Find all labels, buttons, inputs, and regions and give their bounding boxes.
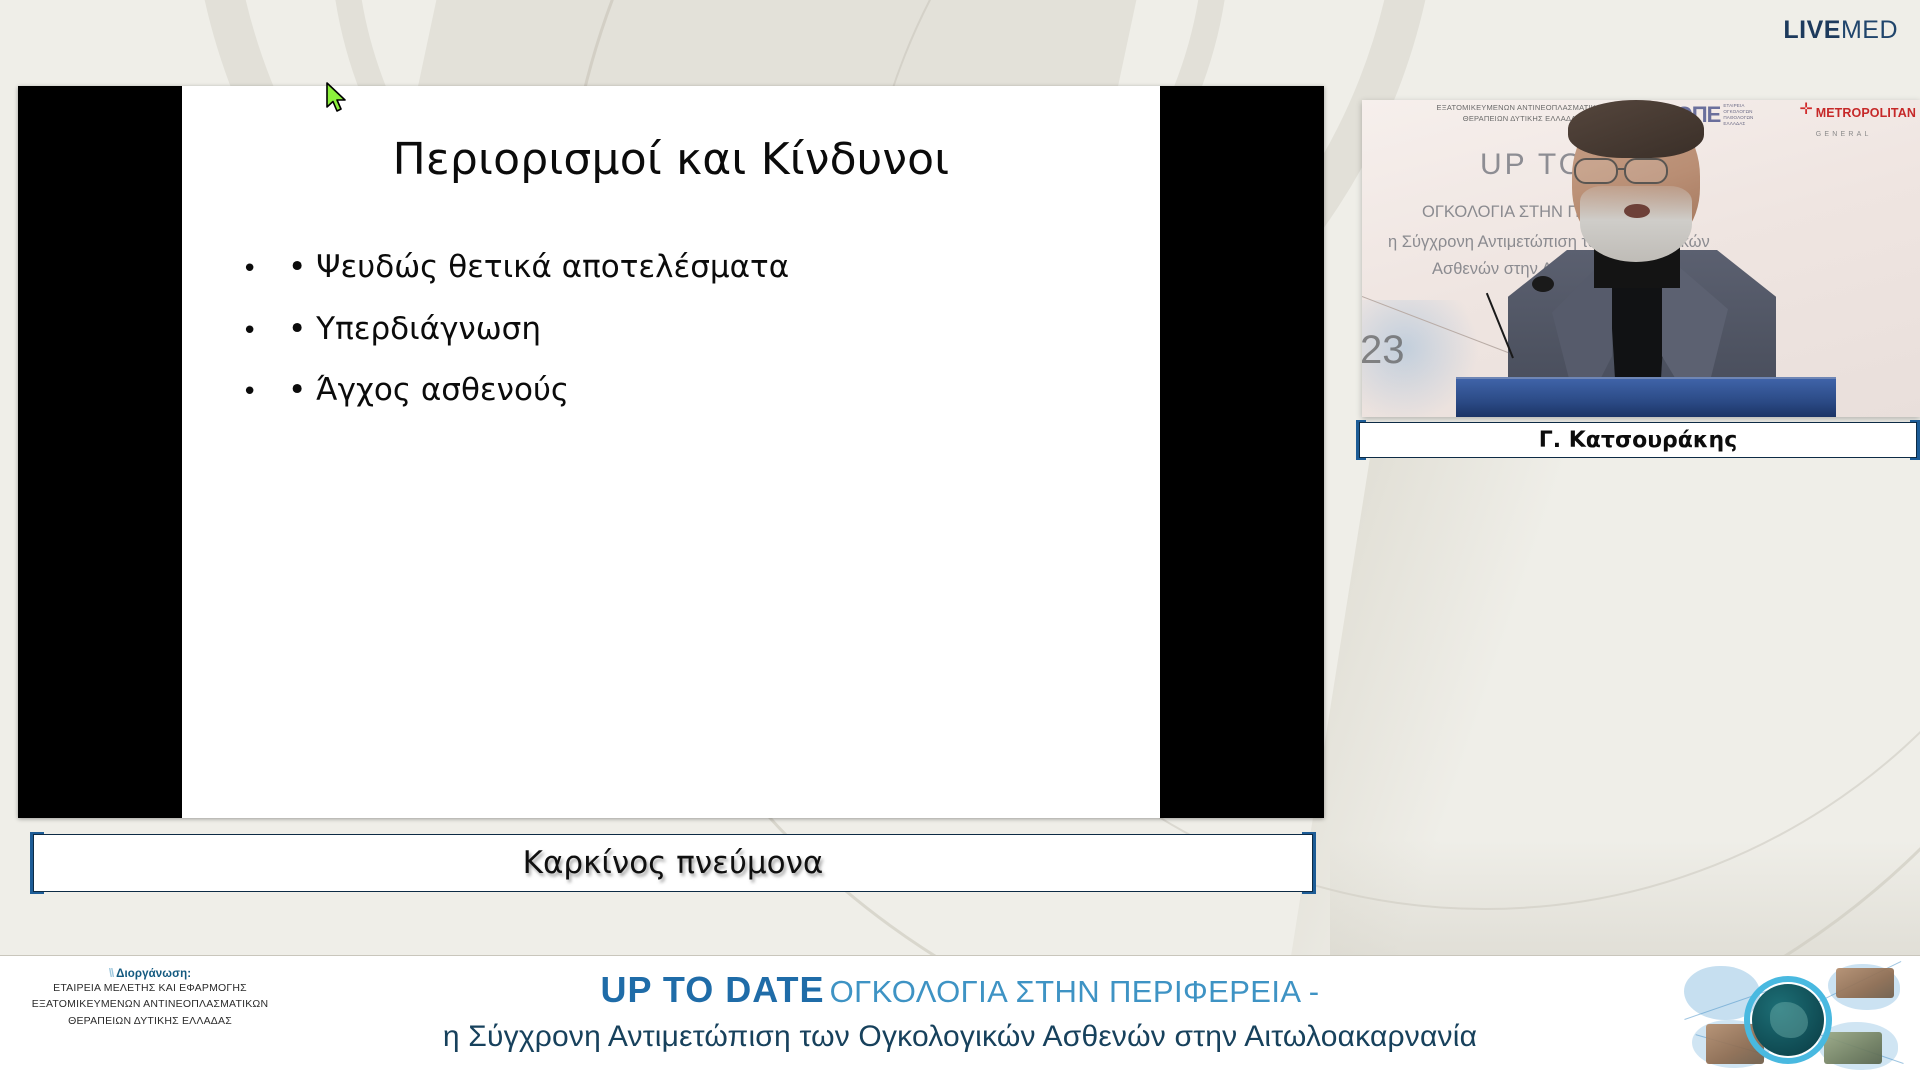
mouse-cursor-icon [326,82,348,118]
livemed-logo-live: LIVE [1783,16,1841,44]
metropolitan-logo-sub: GENERAL [1816,131,1872,138]
podium [1456,379,1836,417]
organizer-line-1: ΕΤΑΙΡΕΙΑ ΜΕΛΕΤΗΣ ΚΑΙ ΕΦΑΡΜΟΓΗΣ [0,980,300,996]
slide-bullet-list: • • Ψευδώς θετικά αποτελέσματα • • Υπερδ… [242,248,1120,433]
emblem-photo-thumb [1824,1032,1882,1064]
bullet-marker: • [242,376,288,409]
event-footer-bar: \\ Διοργάνωση: ΕΤΑΙΡΕΙΑ ΜΕΛΕΤΗΣ ΚΑΙ ΕΦΑΡ… [0,955,1920,1080]
eope-sub-2: ΟΓΚΟΛΟΓΩΝ [1723,109,1752,114]
emblem-photo-thumb [1836,968,1894,998]
organizer-line-3: ΘΕΡΑΠΕΙΩΝ ΔΥΤΙΚΗΣ ΕΛΛΑΔΑΣ [0,1013,300,1029]
speaker-nameplate-bar: Γ. Κατσουράκης [1356,420,1920,460]
medical-cross-icon: ✛ [1799,102,1812,116]
speaker-glasses-bridge [1618,168,1626,170]
bullet-text: • Ψευδώς θετικά αποτελέσματα [288,248,789,288]
livemed-logo: LIVEMED [1783,18,1898,43]
metropolitan-logo-text: METROPOLITAN [1816,106,1916,120]
speaker-glasses-right-lens [1624,158,1668,184]
organizer-line-2: ΕΞΑΤΟΜΙΚΕΥΜΕΝΩΝ ΑΝΤΙΝΕΟΠΛΑΣΜΑΤΙΚΩΝ [0,996,300,1012]
bullet-marker: • [242,253,288,286]
presentation-slide-stage[interactable]: Περιορισμοί και Κίνδυνοι • • Ψευδώς θετι… [18,86,1324,818]
event-title-rest: ΟΓΚΟΛΟΓΙΑ ΣΤΗΝ ΠΕΡΙΦΕΡΕΙΑ - [830,974,1320,1009]
bullet-text: • Υπερδιάγνωση [288,310,541,350]
event-title-block: UP TO DATE ΟΓΚΟΛΟΓΙΑ ΣΤΗΝ ΠΕΡΙΦΕΡΕΙΑ - η… [260,970,1660,1054]
eope-sub-1: ΕΤΑΙΡΕΙΑ [1723,103,1744,108]
bullet-text: • Άγχος ασθενούς [288,371,569,411]
slide-title: Περιορισμοί και Κίνδυνοι [182,134,1160,185]
organizer-heading-text: Διοργάνωση: [116,968,191,980]
event-title-bold: UP TO DATE [601,969,825,1010]
livemed-logo-med: MED [1841,16,1898,44]
speaker-glasses-left-lens [1574,158,1618,184]
microphone-icon [1532,276,1554,292]
eope-sub-3: ΠΑΘΟΛΟΓΩΝ [1723,115,1753,120]
slide-canvas: Περιορισμοί και Κίνδυνοι • • Ψευδώς θετι… [182,86,1160,818]
metropolitan-logo-text-wrap: METROPOLITAN GENERAL [1816,102,1916,140]
organizer-slashes-icon: \\ [109,968,113,980]
slide-caption-text: Καρκίνος πνεύμονα [33,834,1313,892]
speaker-beard [1580,186,1692,262]
event-emblem-logo [1678,962,1910,1074]
eope-sub-4: ΕΛΛΑΔΑΣ [1723,121,1745,126]
speaker-video-feed[interactable]: ΕΞΑΤΟΜΙΚΕΥΜΕΝΩΝ ΑΝΤΙΝΕΟΠΛΑΣΜΑΤΙΚΩΝ ΘΕΡΑΠ… [1362,100,1920,417]
speaker-name: Γ. Κατσουράκης [1359,422,1917,458]
event-title-line-1: UP TO DATE ΟΓΚΟΛΟΓΙΑ ΣΤΗΝ ΠΕΡΙΦΕΡΕΙΑ - [260,970,1660,1010]
event-subtitle: η Σύγχρονη Αντιμετώπιση των Ογκολογικών … [260,1020,1660,1054]
eope-logo-subtext: ΕΤΑΙΡΕΙΑ ΟΓΚΟΛΟΓΩΝ ΠΑΘΟΛΟΓΩΝ ΕΛΛΑΔΑΣ [1723,103,1753,128]
organizer-heading: \\ Διοργάνωση: [0,968,300,980]
backdrop-year-mark: 23 [1362,328,1405,373]
slide-caption-bar: Καρκίνος πνεύμονα [30,832,1316,894]
speaker-mouth [1624,204,1650,218]
bullet-marker: • [242,315,288,348]
organizer-block: \\ Διοργάνωση: ΕΤΑΙΡΕΙΑ ΜΕΛΕΤΗΣ ΚΑΙ ΕΦΑΡ… [0,968,300,1029]
list-item: • • Υπερδιάγνωση [242,310,1120,350]
list-item: • • Άγχος ασθενούς [242,371,1120,411]
watermark-floor [1330,840,1920,960]
speaker-hair [1568,100,1704,158]
list-item: • • Ψευδώς θετικά αποτελέσματα [242,248,1120,288]
metropolitan-general-logo: ✛ METROPOLITAN GENERAL [1799,102,1916,140]
